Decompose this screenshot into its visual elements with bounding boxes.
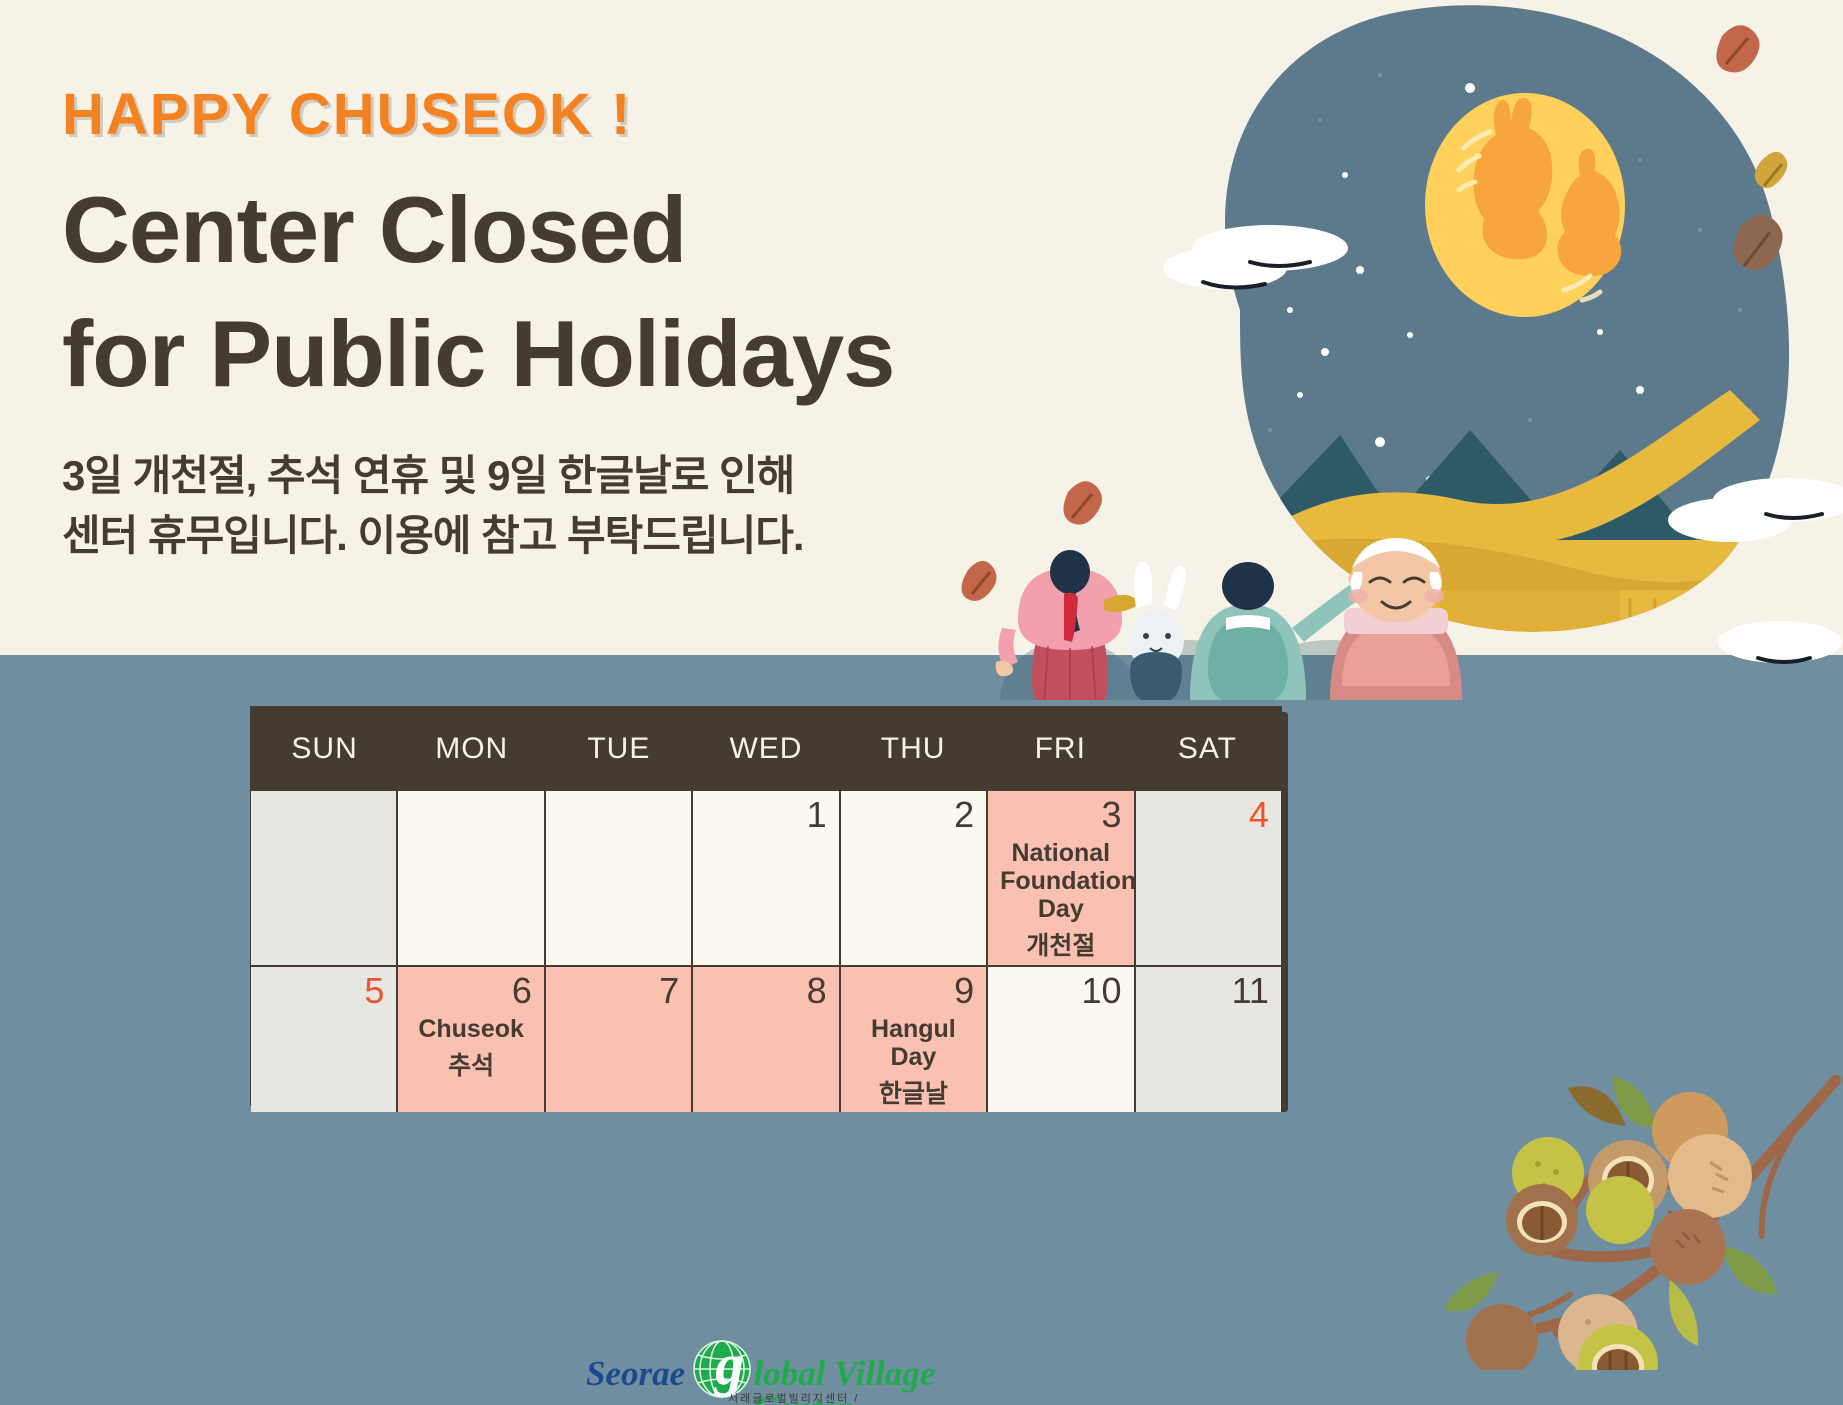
subtitle-wrap: 3일 개천절, 추석 연휴 및 9일 한글날로 인해 센터 휴무입니다. 이용에…: [62, 446, 1022, 565]
calendar-week-row: 123National Foundation Day개천절4: [251, 791, 1281, 967]
calendar-event-label-kr: 추석: [410, 1053, 531, 1081]
poster-canvas: HAPPY CHUSEOK ! Center Closed for Public…: [0, 0, 1843, 1405]
calendar-day-cell-empty[interactable]: [251, 791, 398, 965]
calendar-day-cell-10[interactable]: 10: [988, 967, 1135, 1113]
calendar-day-cell-9[interactable]: 9Hangul Day한글날: [841, 967, 988, 1113]
calendar-day-cell-6[interactable]: 6Chuseok추석: [398, 967, 545, 1113]
calendar-day-cell-empty[interactable]: [398, 791, 545, 965]
weekday-header-mon: MON: [398, 707, 545, 791]
weekday-header-thu: THU: [840, 707, 987, 791]
calendar-day-cell-8[interactable]: 8: [693, 967, 840, 1113]
weekday-header-tue: TUE: [545, 707, 692, 791]
calendar-body: 123National Foundation Day개천절456Chuseok추…: [251, 791, 1281, 1112]
calendar-day-number: 9: [954, 973, 974, 1009]
calendar-day-cell-5[interactable]: 5: [251, 967, 398, 1113]
calendar-day-number: 3: [1102, 797, 1122, 833]
subtitle-line-2: 센터 휴무입니다. 이용에 참고 부탁드립니다.: [62, 506, 1022, 566]
calendar-day-cell-1[interactable]: 1: [693, 791, 840, 965]
calendar-day-number: 5: [364, 973, 384, 1009]
title-wrap: Center Closed for Public Holidays: [62, 168, 1022, 416]
seorae-global-village-center-logo: Seorae g lobal Village Center 서래글로벌빌리지센터…: [586, 1338, 1006, 1404]
calendar-day-number: 11: [1232, 973, 1269, 1009]
logo-word-seorae: Seorae: [586, 1356, 685, 1391]
page-title-line-2: for Public Holidays: [62, 292, 1022, 416]
logo-letter-g: g: [715, 1336, 744, 1394]
calendar-day-cell-11[interactable]: 11: [1136, 967, 1281, 1113]
calendar-event-label-en: National Foundation Day: [1000, 839, 1121, 923]
calendar-day-number: 2: [954, 797, 974, 833]
calendar-event-label-kr: 개천절: [1000, 933, 1121, 961]
calendar-day-number: 8: [807, 973, 827, 1009]
kicker-text: HAPPY CHUSEOK !: [62, 85, 1022, 146]
calendar-day-cell-empty[interactable]: [546, 791, 693, 965]
calendar-day-cell-7[interactable]: 7: [546, 967, 693, 1113]
subtitle-line-1: 3일 개천절, 추석 연휴 및 9일 한글날로 인해: [62, 446, 1022, 506]
weekday-header-sat: SAT: [1134, 707, 1281, 791]
page-title-line-1: Center Closed: [62, 168, 1022, 292]
weekday-header-fri: FRI: [987, 707, 1134, 791]
calendar-day-number: 10: [1081, 973, 1121, 1009]
calendar-day-cell-3[interactable]: 3National Foundation Day개천절: [988, 791, 1135, 965]
calendar-day-cell-2[interactable]: 2: [841, 791, 988, 965]
calendar-day-number: 4: [1249, 797, 1269, 833]
calendar-day-cell-4[interactable]: 4: [1136, 791, 1281, 965]
headline-block: HAPPY CHUSEOK ! Center Closed for Public…: [62, 85, 1022, 565]
branch-fruits: [1466, 1092, 1752, 1370]
calendar-widget: SUN MON TUE WED THU FRI SAT 123National …: [250, 706, 1282, 1106]
logo-korean-caption: 서래글로벌빌리지센터 /: [728, 1390, 859, 1405]
weekday-header-wed: WED: [692, 707, 839, 791]
calendar-day-number: 1: [807, 797, 827, 833]
calendar-day-number: 7: [659, 973, 679, 1009]
weekday-header-sun: SUN: [251, 707, 398, 791]
calendar-event-label-kr: 한글날: [853, 1081, 974, 1109]
calendar-header-row: SUN MON TUE WED THU FRI SAT: [251, 707, 1281, 791]
calendar-day-number: 6: [512, 973, 532, 1009]
chestnut-branch-decoration: [1270, 1040, 1843, 1370]
calendar-event-label-en: Hangul Day: [853, 1015, 974, 1071]
calendar-week-row: 56Chuseok추석789Hangul Day한글날1011: [251, 967, 1281, 1113]
calendar-event-label-en: Chuseok: [410, 1015, 531, 1043]
